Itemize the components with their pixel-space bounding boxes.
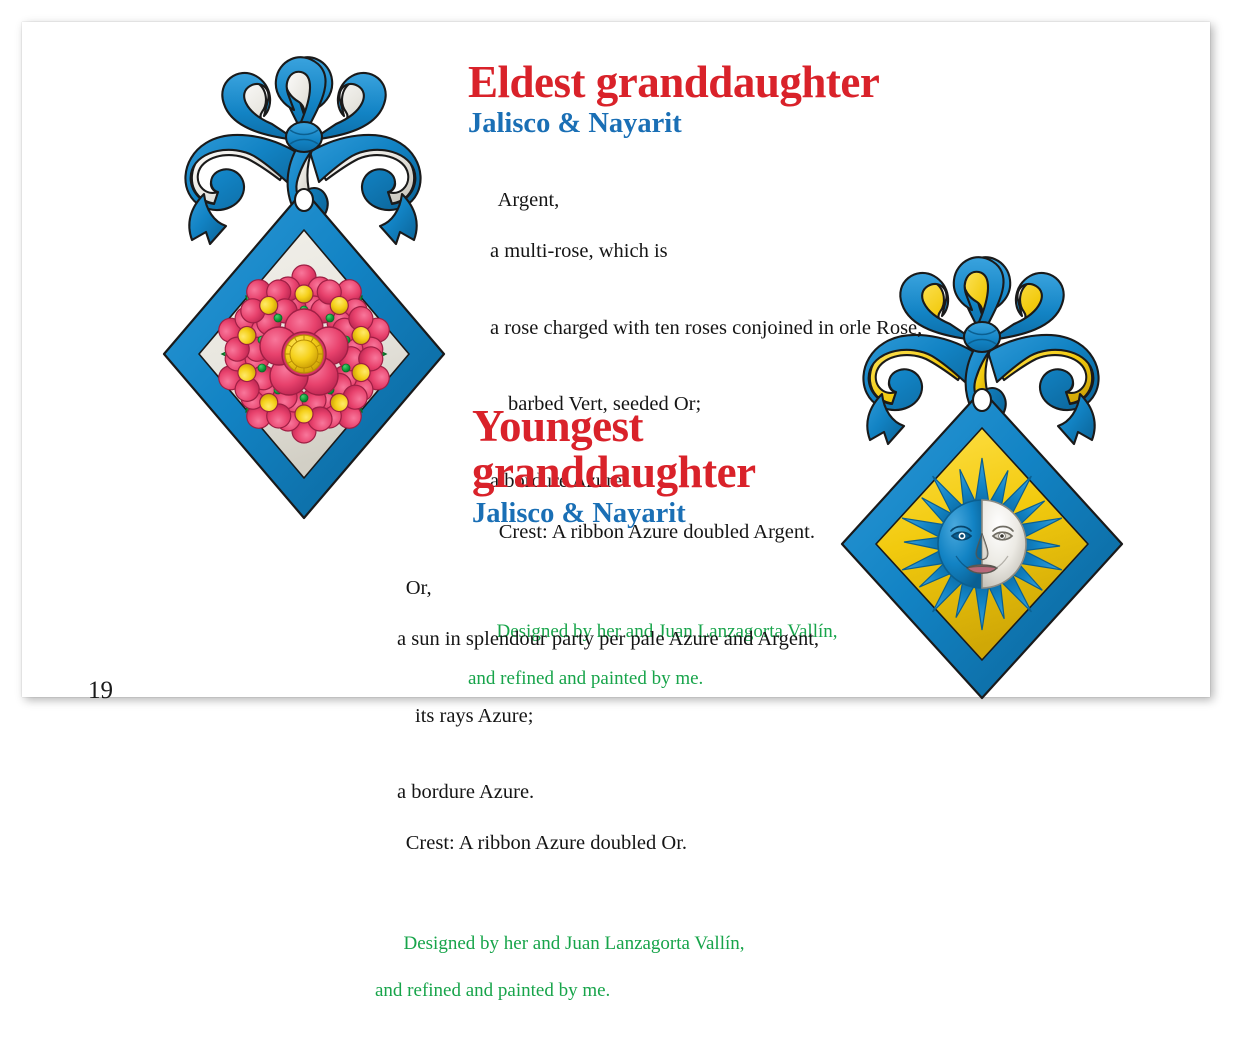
page-sheet: Eldest granddaughter Jalisco & Nayarit A…	[22, 22, 1210, 697]
credit-line: Designed by her and Juan Lanzagorta Vall…	[404, 933, 745, 954]
heading-line: granddaughter	[472, 450, 895, 496]
subheading-jalisco-nayarit: Jalisco & Nayarit	[468, 109, 1008, 139]
subheading-jalisco-nayarit: Jalisco & Nayarit	[375, 499, 895, 529]
blazon-line: Argent,	[498, 189, 560, 211]
blazon-line: Or,	[406, 577, 432, 599]
credit-line: and refined and painted by me.	[375, 979, 895, 1003]
blazon-line: its rays Azure;	[375, 704, 895, 730]
heading-line: Youngest	[472, 404, 895, 450]
blazon-youngest: Or, a sun in splendour party per pale Az…	[375, 551, 895, 883]
blazon-line: a rose charged with ten roses conjoined …	[468, 316, 1008, 342]
seed-or	[285, 335, 323, 373]
heading-eldest-granddaughter: Eldest granddaughter	[468, 60, 1008, 106]
blazon-line: a sun in splendour party per pale Azure …	[375, 627, 895, 653]
blazon-line: a multi-rose, which is	[468, 239, 1008, 265]
section-youngest-granddaughter: Youngest granddaughter Jalisco & Nayarit…	[375, 404, 895, 1050]
heading-youngest-granddaughter: Youngest granddaughter	[375, 404, 895, 496]
page-number: 19	[88, 677, 113, 705]
blazon-line: a bordure Azure.	[375, 780, 895, 806]
credit-youngest: Designed by her and Juan Lanzagorta Vall…	[375, 908, 895, 1049]
blazon-line-crest: Crest: A ribbon Azure doubled Or.	[406, 832, 687, 854]
